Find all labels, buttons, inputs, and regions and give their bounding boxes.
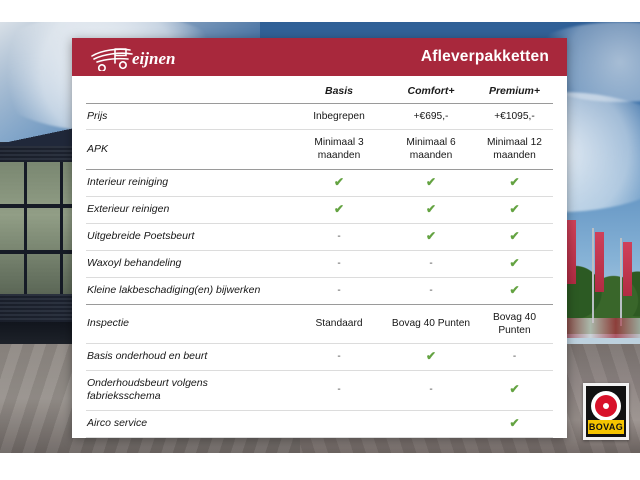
row-label: Prijs bbox=[86, 104, 292, 130]
check-icon: ✔ bbox=[386, 223, 476, 250]
package-comparison-card: eijnen Afleverpakketten Basis Comfort+ P… bbox=[72, 38, 567, 438]
row-label: Brandstof bbox=[86, 437, 292, 438]
flag-pole bbox=[592, 228, 594, 323]
letterbox-bottom bbox=[0, 453, 640, 480]
row-label: Inspectie bbox=[86, 304, 292, 343]
table-cell: Minimaal 3 maanden bbox=[292, 130, 386, 169]
table-cell: Minimaal 6 maanden bbox=[386, 130, 476, 169]
check-icon: ✔ bbox=[476, 277, 553, 304]
flag bbox=[623, 242, 632, 296]
screenshot-stage: eijnen Afleverpakketten Basis Comfort+ P… bbox=[0, 0, 640, 480]
dash-marker: - bbox=[292, 437, 386, 438]
check-icon: ✔ bbox=[476, 410, 553, 437]
table-row: InspectieStandaardBovag 40 PuntenBovag 4… bbox=[86, 304, 553, 343]
comparison-table: Basis Comfort+ Premium+ PrijsInbegrepen+… bbox=[86, 76, 553, 438]
table-cell: Inbegrepen bbox=[292, 104, 386, 130]
table-cell: Minimaal 12 maanden bbox=[476, 130, 553, 169]
card-header: eijnen Afleverpakketten bbox=[72, 38, 567, 76]
table-row: Waxoyl behandeling--✔ bbox=[86, 250, 553, 277]
table-cell: Halfvolle tank bbox=[386, 437, 476, 438]
row-label: Kleine lakbeschadiging(en) bijwerken bbox=[86, 277, 292, 304]
dash-marker: - bbox=[292, 223, 386, 250]
table-cell bbox=[292, 410, 386, 437]
col-header-comfort: Comfort+ bbox=[386, 76, 476, 104]
check-icon: ✔ bbox=[476, 223, 553, 250]
flag-pole bbox=[620, 238, 622, 326]
table-row: APKMinimaal 3 maandenMinimaal 6 maandenM… bbox=[86, 130, 553, 169]
row-label: APK bbox=[86, 130, 292, 169]
letterbox-top bbox=[0, 0, 640, 22]
dash-marker: - bbox=[386, 277, 476, 304]
table-row: Exterieur reinigen✔✔✔ bbox=[86, 196, 553, 223]
dash-marker: - bbox=[292, 277, 386, 304]
table-cell bbox=[386, 410, 476, 437]
table-row: Uitgebreide Poetsbeurt-✔✔ bbox=[86, 223, 553, 250]
row-label: Interieur reiniging bbox=[86, 169, 292, 196]
check-icon: ✔ bbox=[292, 169, 386, 196]
check-icon: ✔ bbox=[476, 370, 553, 410]
table-row: Airco service✔ bbox=[86, 410, 553, 437]
bovag-emblem bbox=[591, 391, 621, 421]
dash-marker: - bbox=[476, 343, 553, 370]
table-cell: Volle tank bbox=[476, 437, 553, 438]
flag bbox=[595, 232, 604, 292]
table-cell: Standaard bbox=[292, 304, 386, 343]
col-header-premium: Premium+ bbox=[476, 76, 553, 104]
table-row: PrijsInbegrepen+€695,-+€1095,- bbox=[86, 104, 553, 130]
check-icon: ✔ bbox=[386, 196, 476, 223]
table-row: Onderhoudsbeurt volgens fabrieksschema--… bbox=[86, 370, 553, 410]
table-header-row: Basis Comfort+ Premium+ bbox=[86, 76, 553, 104]
row-label: Onderhoudsbeurt volgens fabrieksschema bbox=[86, 370, 292, 410]
check-icon: ✔ bbox=[386, 343, 476, 370]
table-cell: Bovag 40 Punten bbox=[476, 304, 553, 343]
check-icon: ✔ bbox=[386, 169, 476, 196]
row-label: Airco service bbox=[86, 410, 292, 437]
dash-marker: - bbox=[292, 250, 386, 277]
bovag-logo-icon: BOVAG bbox=[586, 386, 626, 437]
svg-text:eijnen: eijnen bbox=[132, 49, 175, 68]
check-icon: ✔ bbox=[476, 169, 553, 196]
row-label: Waxoyl behandeling bbox=[86, 250, 292, 277]
card-title: Afleverpakketten bbox=[421, 48, 553, 66]
dash-marker: - bbox=[292, 343, 386, 370]
table-cell: Bovag 40 Punten bbox=[386, 304, 476, 343]
flag bbox=[567, 220, 576, 284]
check-icon: ✔ bbox=[476, 196, 553, 223]
comparison-table-wrap: Basis Comfort+ Premium+ PrijsInbegrepen+… bbox=[72, 76, 567, 438]
reijnen-logo[interactable]: eijnen bbox=[88, 42, 192, 72]
table-row: Kleine lakbeschadiging(en) bijwerken--✔ bbox=[86, 277, 553, 304]
row-label: Basis onderhoud en beurt bbox=[86, 343, 292, 370]
table-body: PrijsInbegrepen+€695,-+€1095,-APKMinimaa… bbox=[86, 104, 553, 439]
col-header-basis: Basis bbox=[292, 76, 386, 104]
car-logo-icon: eijnen bbox=[88, 43, 192, 71]
table-cell: +€695,- bbox=[386, 104, 476, 130]
table-row: Brandstof-Halfvolle tankVolle tank bbox=[86, 437, 553, 438]
row-label: Uitgebreide Poetsbeurt bbox=[86, 223, 292, 250]
table-row: Basis onderhoud en beurt-✔- bbox=[86, 343, 553, 370]
col-header-feature bbox=[86, 76, 292, 104]
row-label: Exterieur reinigen bbox=[86, 196, 292, 223]
bovag-label: BOVAG bbox=[588, 420, 624, 434]
dash-marker: - bbox=[292, 370, 386, 410]
bovag-badge: BOVAG bbox=[583, 383, 629, 440]
table-head: Basis Comfort+ Premium+ bbox=[86, 76, 553, 104]
check-icon: ✔ bbox=[292, 196, 386, 223]
check-icon: ✔ bbox=[476, 250, 553, 277]
dash-marker: - bbox=[386, 250, 476, 277]
table-row: Interieur reiniging✔✔✔ bbox=[86, 169, 553, 196]
table-cell: +€1095,- bbox=[476, 104, 553, 130]
dash-marker: - bbox=[386, 370, 476, 410]
